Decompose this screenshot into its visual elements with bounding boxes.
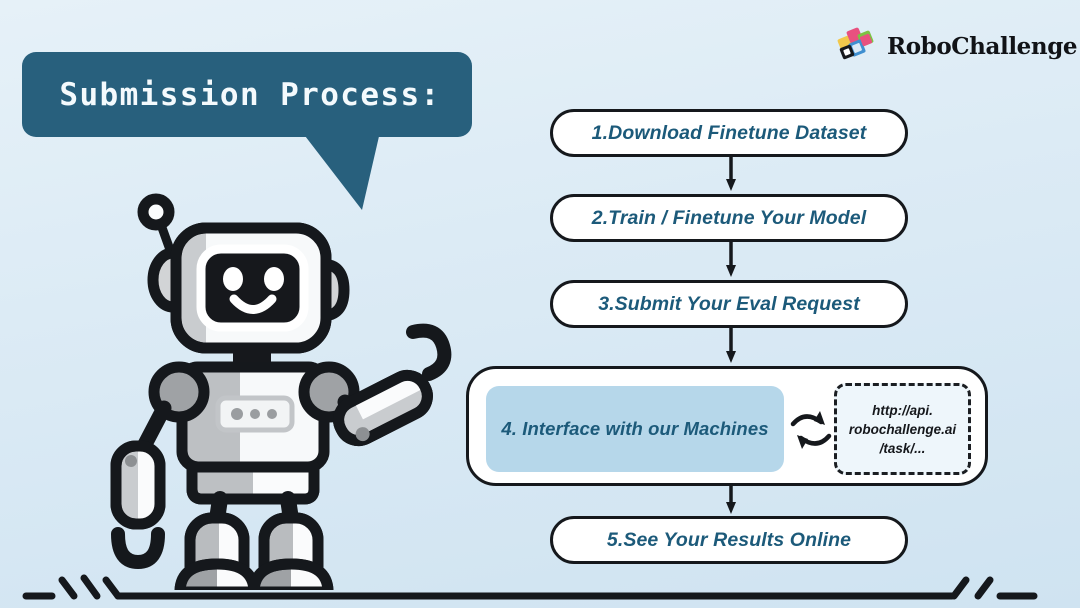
api-endpoint-line-2: robochallenge.ai (849, 422, 956, 437)
api-endpoint-box: http://api. robochallenge.ai /task/... (834, 383, 971, 475)
submission-flowchart: 1.Download Finetune Dataset 2.Train / Fi… (466, 100, 1011, 570)
flow-step-1-label: 1.Download Finetune Dataset (592, 122, 867, 145)
brand-name: RoboChallenge (887, 33, 1077, 60)
flow-arrow-1-to-2-icon (725, 157, 737, 194)
flow-step-3[interactable]: 3.Submit Your Eval Request (550, 280, 908, 328)
flow-arrow-2-to-3-icon (725, 242, 737, 280)
flow-step-4[interactable]: 4. Interface with our Machines http://ap… (466, 366, 988, 486)
flow-step-3-label: 3.Submit Your Eval Request (598, 293, 860, 316)
bidirectional-sync-arrows-icon (787, 409, 835, 451)
robot-mascot-illustration (80, 160, 460, 590)
flow-step-4-highlight[interactable]: 4. Interface with our Machines (486, 386, 784, 472)
flow-step-1[interactable]: 1.Download Finetune Dataset (550, 109, 908, 157)
slide-canvas: RoboChallenge Submission Process: (0, 0, 1080, 608)
flow-step-5[interactable]: 5.See Your Results Online (550, 516, 908, 564)
flow-step-5-label: 5.See Your Results Online (607, 529, 851, 552)
brand-logo: RoboChallenge (836, 26, 1077, 66)
flow-step-4-label: 4. Interface with our Machines (501, 418, 768, 440)
api-endpoint-line-3: /task/... (880, 441, 926, 456)
flow-arrow-3-to-4-icon (725, 328, 737, 366)
flow-step-2-label: 2.Train / Finetune Your Model (592, 207, 867, 230)
flow-step-2[interactable]: 2.Train / Finetune Your Model (550, 194, 908, 242)
page-title: Submission Process: (22, 52, 472, 137)
api-endpoint-line-1: http://api. (872, 403, 933, 418)
flow-arrow-4-to-5-icon (725, 486, 737, 516)
robochallenge-diamonds-logo-icon (836, 26, 880, 66)
